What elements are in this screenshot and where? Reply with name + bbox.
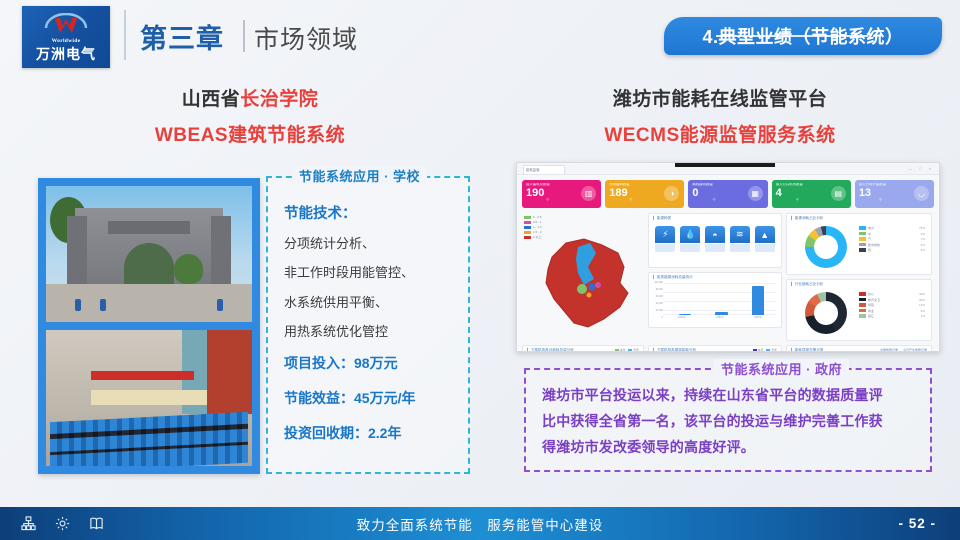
legend-value: 4% [921, 248, 925, 252]
legend-label: 本年 [758, 348, 764, 352]
dashboard-bottom-row: 下属机构各月能耗总量分析 本年 去年 80,000,00060,000,0004… [522, 345, 934, 352]
dashboard-screenshot: 能耗监管 — □ × 接入建筑总数量 190 个 ▥ 在线建筑数量 189 个 … [516, 162, 940, 352]
legend-item: 水9% [859, 232, 925, 236]
company-logo: Worldwide 万洲电气 [22, 6, 110, 68]
legend-label: 场馆 [868, 303, 917, 307]
card-title: 各类能源消耗总量统计 [649, 273, 781, 280]
kpi-unit: 个 [629, 197, 632, 202]
legend-item: 煤4% [859, 248, 925, 252]
metric-savings: 节能效益：45万元/年 [284, 388, 454, 408]
legend-label: 商业 [868, 309, 919, 313]
institution-icon: ▤ [831, 186, 846, 201]
right-title-line2: WECMS能源监管服务系统 [500, 120, 940, 147]
table-tool-all[interactable]: 全部告警记录 [880, 348, 898, 352]
paragraph-line: 得潍坊市发改委领导的高度好评。 [542, 435, 914, 461]
dashboard-column-map: 0 - 0.5 0.5 - 1 1 - 1.5 1.5 - 2 2 以上 [522, 213, 644, 341]
kpi-unit: 个 [712, 197, 715, 202]
legend-value: 12% [919, 303, 925, 307]
paragraph-line: 比中获得全省第一名，该平台的投运与维护完善工作获 [542, 409, 914, 435]
dashboard-titlebar: 能耗监管 — □ × [517, 163, 939, 175]
card-title: 能源消耗占比分析 [787, 214, 931, 221]
legend-item: 电力75% [859, 226, 925, 230]
gas-icon[interactable]: ◓ [705, 226, 725, 252]
legend-item: 本年 [615, 348, 626, 352]
kpi-card[interactable]: 在线建筑数量 189 个 ◑ [605, 180, 684, 208]
energy-share-donut[interactable]: 能源消耗占比分析 电力75% 水9% 气7% 集中供热5% 煤4% [786, 213, 932, 275]
kpi-card[interactable]: 接入公共机构数量 4 个 ▤ [772, 180, 851, 208]
footer-slogan: 致力全面系统节能 服务能管中心建设 [0, 514, 960, 534]
legend-value: 7% [921, 237, 925, 241]
plot-area: 2020年 2021年 2022年 [663, 283, 777, 319]
left-title-line2: WBEAS建筑节能系统 [30, 120, 470, 147]
donut-legend: 办公42% 教育文卫30% 场馆12% 商业9% 其它7% [859, 292, 925, 320]
region-map-icon [532, 227, 640, 335]
building-energy-bar-chart[interactable]: 下属机构各建筑能耗分析 本年 去年 50403020100 [648, 345, 782, 352]
kpi-row: 接入建筑总数量 190 个 ▥ 在线建筑数量 189 个 ◑ 离线建筑数量 0 … [522, 180, 934, 208]
card-title: 能源种类 [649, 214, 781, 221]
card-title: 行业能耗占比分析 [787, 280, 931, 287]
table-tool-today[interactable]: 今日产生告警记录 [903, 348, 927, 352]
x-tick: 2021年 [701, 315, 739, 319]
legend-label: 煤 [868, 248, 919, 252]
dashboard-column-center-left: 能源种类 ⚡ 💧 ◓ ≋ ▲ 各类能源消耗总量统计 100,00080,0006… [648, 213, 782, 341]
map-legend-item: 0.5 - 1 [524, 220, 542, 224]
legend-value: 9% [921, 309, 925, 313]
header-divider [124, 10, 126, 60]
heat-icon[interactable]: ≋ [730, 226, 750, 252]
offline-icon: ▦ [748, 186, 763, 201]
browser-url-bar [675, 162, 775, 167]
legend-label: 气 [868, 237, 919, 241]
energy-total-bar-chart[interactable]: 各类能源消耗总量统计 100,00080,00060,00040,00020,0… [648, 272, 782, 328]
window-buttons[interactable]: — □ × [908, 166, 934, 171]
left-title-school: 长治学院 [240, 89, 318, 110]
kpi-card[interactable]: 接入分项计量数量 13 个 ◡ [855, 180, 934, 208]
right-panel-caption: 节能系统应用 · 政府 [714, 359, 849, 378]
legend-label: 本年 [620, 348, 626, 352]
left-panel-caption: 节能系统应用 · 学校 [292, 166, 427, 185]
alarm-table-card[interactable]: 能耗异常告警记录 全部告警记录 今日产生告警记录 告警编号 建筑名称 告警发生时… [786, 345, 932, 352]
industry-share-donut[interactable]: 行业能耗占比分析 办公42% 教育文卫30% 场馆12% 商业9% 其它7% [786, 279, 932, 341]
bar [752, 286, 765, 315]
legend-item: 集中供热5% [859, 243, 925, 247]
legend-label: 水 [868, 232, 919, 236]
x-axis: 2020年 2021年 2022年 [663, 315, 777, 319]
tech-item: 非工作时段用能管控、 [284, 265, 454, 281]
slide-root: Worldwide 万洲电气 第三章 市场领域 4.典型业绩（节能系统） 山西省… [0, 0, 960, 540]
left-photo-frame [38, 178, 260, 474]
donut-chart [805, 292, 847, 334]
section-subtitle: 市场领域 [254, 20, 358, 56]
kpi-unit: 个 [796, 197, 799, 202]
legend-label: 去年 [633, 348, 639, 352]
map-card[interactable]: 0 - 0.5 0.5 - 1 1 - 1.5 1.5 - 2 2 以上 [522, 213, 644, 341]
campus-gate-photo [46, 186, 252, 322]
chapter-title: 第三章 [140, 17, 224, 56]
left-title-line1: 山西省长治学院 [30, 84, 470, 111]
chart-legend: 本年 去年 [753, 348, 777, 352]
dashboard-tab[interactable]: 能耗监管 [523, 165, 565, 174]
donut-chart [805, 226, 847, 268]
legend-value: 5% [921, 243, 925, 247]
energy-type-card[interactable]: 能源种类 ⚡ 💧 ◓ ≋ ▲ [648, 213, 782, 268]
legend-label: 去年 [771, 348, 777, 352]
left-info-panel: 节能技术： 分项统计分析、 非工作时段用能管控、 水系统供用平衡、 用热系统优化… [266, 176, 470, 474]
energy-tech-heading: 节能技术： [284, 202, 454, 223]
left-column-title: 山西省长治学院 WBEAS建筑节能系统 [30, 84, 470, 147]
legend-item: 去年 [766, 348, 777, 352]
kpi-card[interactable]: 离线建筑数量 0 个 ▦ [688, 180, 767, 208]
meter-icon: ◡ [914, 186, 929, 201]
logo-company-name: 万洲电气 [36, 47, 96, 61]
kpi-card[interactable]: 接入建筑总数量 190 个 ▥ [522, 180, 601, 208]
map-legend-item: 0 - 0.5 [524, 215, 542, 219]
legend-item: 场馆12% [859, 303, 925, 307]
map-legend-label: 0.5 - 1 [533, 220, 542, 224]
tech-item: 分项统计分析、 [284, 236, 454, 252]
legend-label: 集中供热 [868, 243, 919, 247]
legend-item: 其它7% [859, 314, 925, 318]
donut-legend: 电力75% 水9% 气7% 集中供热5% 煤4% [859, 226, 925, 254]
legend-label: 办公 [868, 292, 917, 296]
dashboard-column-right: 能源消耗占比分析 电力75% 水9% 气7% 集中供热5% 煤4% 行业能耗占比… [786, 213, 932, 341]
right-info-panel: 潍坊市平台投运以来，持续在山东省平台的数据质量评 比中获得全省第一名，该平台的投… [524, 368, 932, 472]
topic-badge: 4.典型业绩（节能系统） [664, 17, 942, 55]
table-tools[interactable]: 全部告警记录 今日产生告警记录 [880, 348, 927, 352]
kpi-unit: 个 [879, 197, 882, 202]
campus-ceremony-photo [46, 330, 252, 466]
kpi-unit: 个 [546, 197, 549, 202]
legend-label: 教育文卫 [868, 298, 917, 302]
legend-value: 42% [919, 292, 925, 296]
legend-item: 气7% [859, 237, 925, 241]
legend-item: 教育文卫30% [859, 298, 925, 302]
logo-worldwide-text: Worldwide [52, 38, 81, 44]
metric-payback: 投资回收期：2.2年 [284, 423, 454, 443]
right-column-title: 潍坊市能耗在线监管平台 WECMS能源监管服务系统 [500, 84, 940, 147]
y-axis: 100,00080,00060,00040,00020,0000 [650, 282, 663, 319]
water-icon[interactable]: 💧 [680, 226, 700, 252]
legend-item: 去年 [628, 348, 639, 352]
coal-icon[interactable]: ▲ [755, 226, 775, 252]
x-tick: 2020年 [663, 315, 701, 319]
tech-item: 用热系统优化管控 [284, 324, 454, 340]
page-number: - 52 - [898, 516, 936, 531]
legend-value: 30% [919, 298, 925, 302]
legend-label: 其它 [868, 314, 919, 318]
legend-value: 7% [921, 314, 925, 318]
legend-label: 电力 [868, 226, 917, 230]
x-tick: 2022年 [739, 315, 777, 319]
right-title-line1: 潍坊市能耗在线监管平台 [500, 84, 940, 111]
left-title-province: 山西省 [182, 89, 241, 110]
metric-investment: 项目投入：98万元 [284, 353, 454, 373]
header-title-separator [243, 20, 245, 52]
topic-badge-label: 4.典型业绩（节能系统） [702, 23, 903, 49]
legend-value: 9% [921, 232, 925, 236]
monthly-energy-bar-chart[interactable]: 下属机构各月能耗总量分析 本年 去年 80,000,00060,000,0004… [522, 345, 644, 352]
legend-value: 75% [919, 226, 925, 230]
legend-item: 本年 [753, 348, 764, 352]
paragraph-line: 潍坊市平台投运以来，持续在山东省平台的数据质量评 [542, 383, 914, 409]
legend-item: 商业9% [859, 309, 925, 313]
tech-item: 水系统供用平衡、 [284, 295, 454, 311]
map-legend-label: 0 - 0.5 [533, 215, 542, 219]
electricity-icon[interactable]: ⚡ [655, 226, 675, 252]
footer-bar: 致力全面系统节能 服务能管中心建设 - 52 - [0, 507, 960, 540]
dashboard-grid: 0 - 0.5 0.5 - 1 1 - 1.5 1.5 - 2 2 以上 [522, 213, 934, 341]
logo-emblem-icon [43, 13, 89, 37]
chart-legend: 本年 去年 [615, 348, 639, 352]
legend-item: 办公42% [859, 292, 925, 296]
